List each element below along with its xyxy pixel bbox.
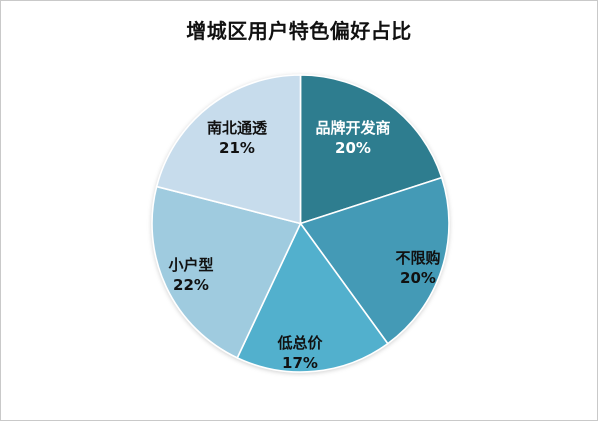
pie-chart <box>151 74 450 373</box>
page-title: 增城区用户特色偏好占比 <box>1 15 597 44</box>
pie-slice-group <box>152 75 449 372</box>
chart-canvas: 增城区用户特色偏好占比 安居客 品牌开发商 20% 不限购 20% 低总价 17… <box>0 0 598 421</box>
pie-chart-svg <box>151 74 450 373</box>
